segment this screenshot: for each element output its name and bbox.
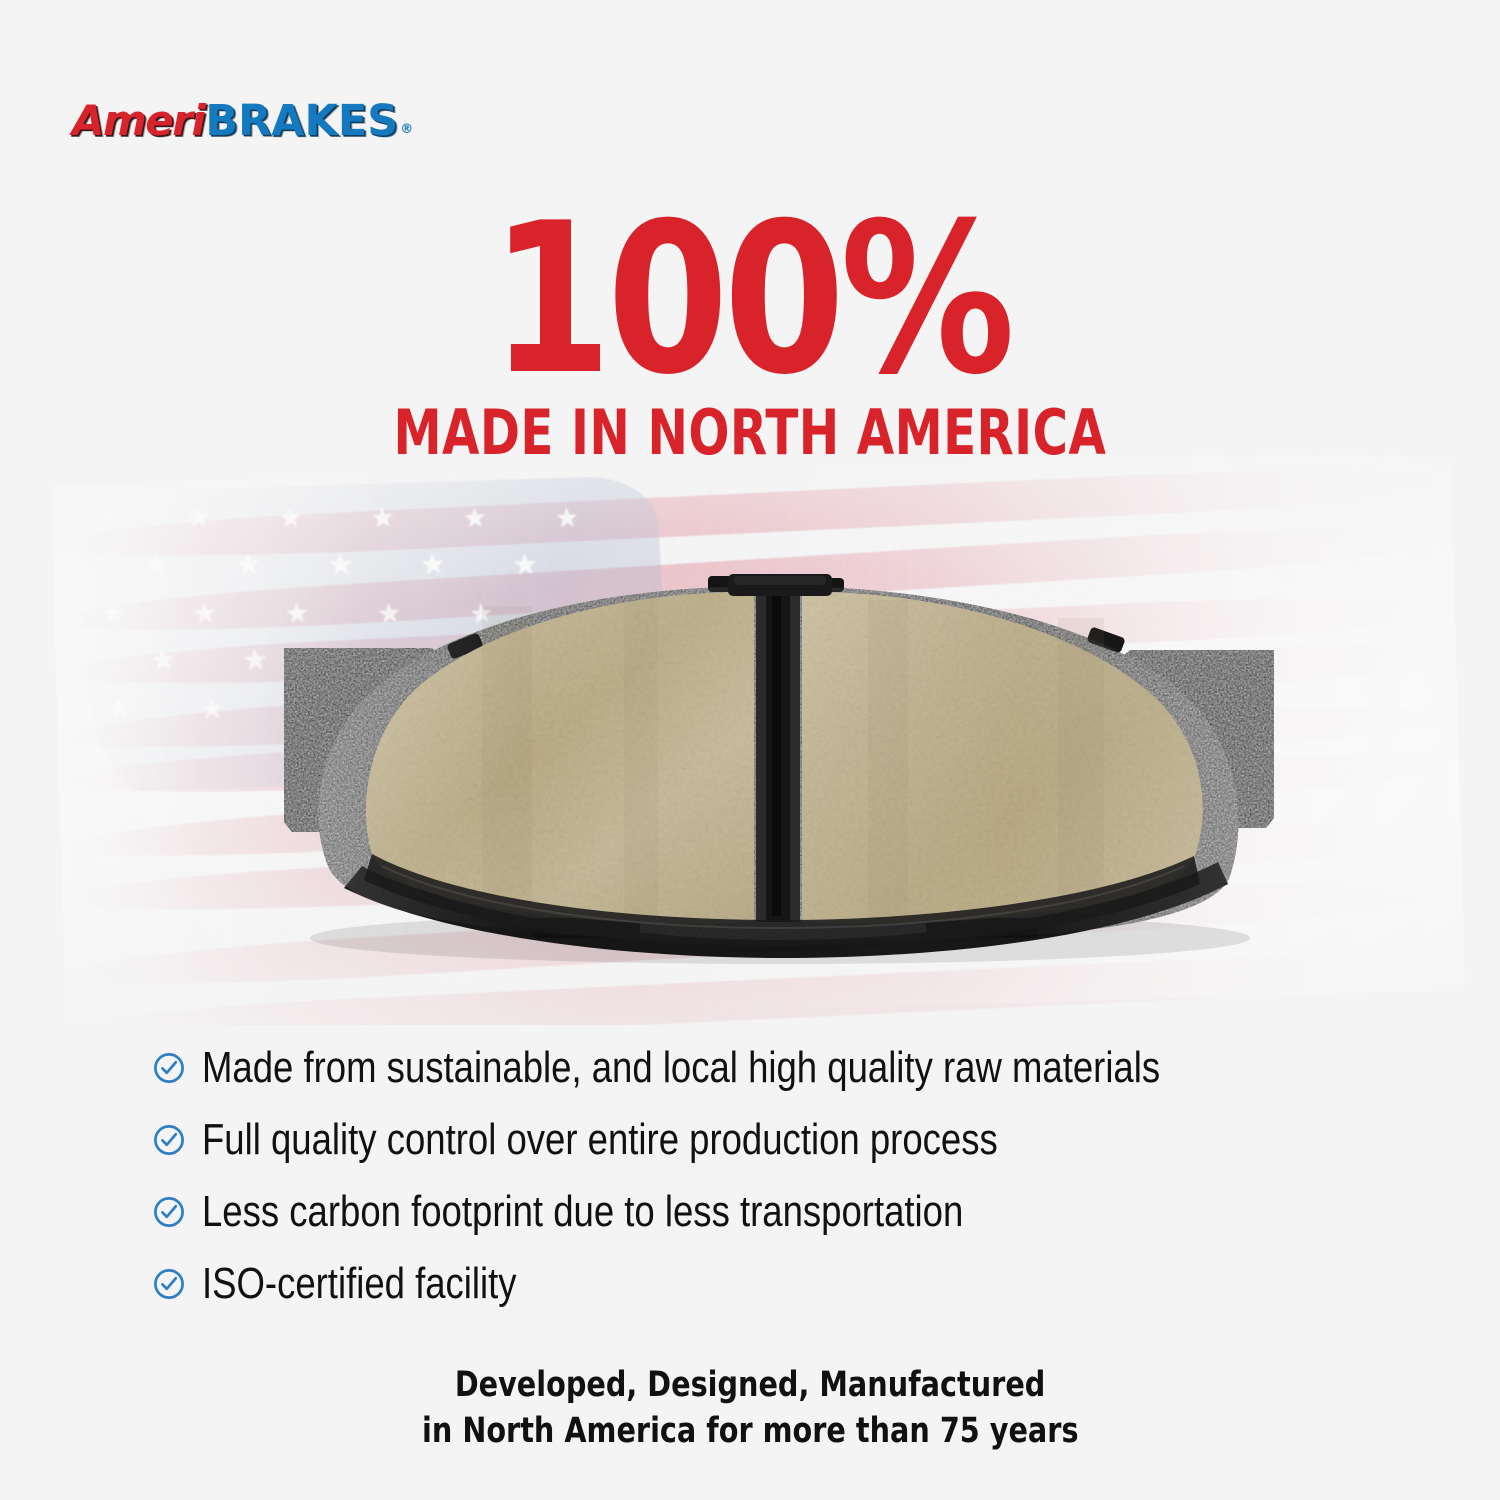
feature-list: Made from sustainable, and local high qu… [152,1040,1402,1328]
feature-text: Less carbon footprint due to less transp… [202,1190,963,1234]
list-item: Made from sustainable, and local high qu… [152,1040,1402,1096]
promo-canvas: AmeriBRAKES® 100% MADE IN NORTH AMERICA … [0,0,1500,1500]
flag-star-icon: ★ [199,695,225,722]
list-item: ISO-certified facility [152,1256,1402,1312]
flag-star-icon: ★ [192,599,218,626]
flag-star-icon: ★ [370,504,396,531]
flag-star-icon: ★ [185,504,211,531]
brake-pad-product-image [232,566,1312,986]
flag-star-icon: ★ [106,695,132,722]
feature-text: Made from sustainable, and local high qu… [202,1046,1160,1090]
headline-block: 100% MADE IN NORTH AMERICA [0,205,1500,464]
flag-star-icon: ★ [149,646,177,676]
brand-logo: AmeriBRAKES® [72,100,413,143]
feature-text: Full quality control over entire product… [202,1118,998,1162]
flag-star-icon: ★ [142,550,170,580]
check-circle-icon [152,1195,186,1229]
check-circle-icon [152,1267,186,1301]
registered-trademark-icon: ® [400,122,413,137]
list-item: Less carbon footprint due to less transp… [152,1184,1402,1240]
feature-text: ISO-certified facility [202,1262,517,1306]
logo-text-ameri: Ameri [72,100,204,142]
flag-star-icon: ★ [93,503,119,530]
footer-line-2: in North America for more than 75 years [422,1408,1078,1454]
flag-star-icon: ★ [554,504,579,531]
footer-block: Developed, Designed, Manufactured in Nor… [0,1362,1500,1454]
flag-star-icon: ★ [462,504,488,531]
flag-star-icon: ★ [100,599,126,626]
footer-line-1: Developed, Designed, Manufactured [455,1362,1046,1408]
check-circle-icon [152,1051,186,1085]
percent-100-text: 100% [490,205,1010,396]
logo-text-brakes: BRAKES [205,100,398,143]
list-item: Full quality control over entire product… [152,1112,1402,1168]
flag-star-icon: ★ [278,504,303,531]
check-circle-icon [152,1123,186,1157]
